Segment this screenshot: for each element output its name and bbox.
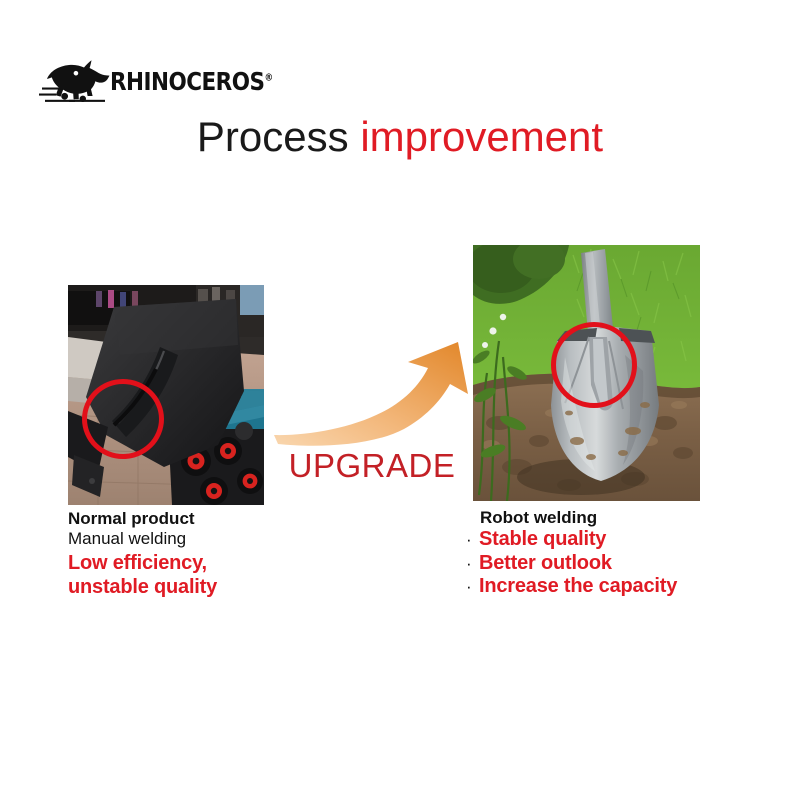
robot-welding-bullet-text: Increase the capacity bbox=[479, 575, 677, 599]
title-plain: Process bbox=[197, 113, 360, 160]
normal-product-heading: Normal product bbox=[68, 509, 318, 529]
upgrade-arrow-graphic bbox=[272, 340, 477, 450]
red-circle-robot-weld bbox=[551, 322, 637, 408]
bullet-dot-icon: · bbox=[466, 531, 479, 548]
normal-product-subheading: Manual welding bbox=[68, 529, 318, 549]
registered-trademark-icon: ® bbox=[264, 72, 272, 83]
rhinoceros-logo-icon bbox=[36, 57, 112, 105]
normal-product-highlights: Low efficiency, unstable quality bbox=[68, 552, 318, 599]
normal-product-highlight-line: unstable quality bbox=[68, 576, 318, 600]
robot-welding-bullet: · Increase the capacity bbox=[466, 575, 786, 599]
robot-welding-bullet-text: Stable quality bbox=[479, 528, 606, 552]
brand-name: RHINOCEROS bbox=[110, 67, 264, 96]
page-title: Process improvement bbox=[0, 114, 800, 160]
red-circle-weld-defect bbox=[82, 379, 164, 459]
slide-canvas: { "brand": { "logo_icon": "rhinoceros-lo… bbox=[0, 0, 800, 800]
robot-welding-photo bbox=[473, 245, 700, 501]
bullet-dot-icon: · bbox=[466, 555, 479, 572]
normal-product-photo bbox=[68, 285, 264, 505]
robot-welding-caption: Robot welding · Stable quality · Better … bbox=[466, 508, 786, 599]
title-accent: improvement bbox=[360, 113, 603, 160]
bullet-dot-icon: · bbox=[466, 578, 479, 595]
normal-product-caption: Normal product Manual welding Low effici… bbox=[68, 509, 318, 599]
curved-upgrade-arrow-icon bbox=[272, 340, 477, 450]
robot-welding-bullet: · Stable quality bbox=[466, 528, 786, 552]
brand-logo: RHINOCEROS® bbox=[36, 56, 236, 106]
normal-product-highlight-line: Low efficiency, bbox=[68, 552, 318, 576]
robot-welding-bullet-text: Better outlook bbox=[479, 552, 612, 576]
upgrade-label: UPGRADE bbox=[272, 449, 472, 482]
robot-welding-bullet: · Better outlook bbox=[466, 552, 786, 576]
brand-wordmark: RHINOCEROS® bbox=[110, 69, 273, 94]
robot-welding-heading: Robot welding bbox=[466, 508, 786, 528]
